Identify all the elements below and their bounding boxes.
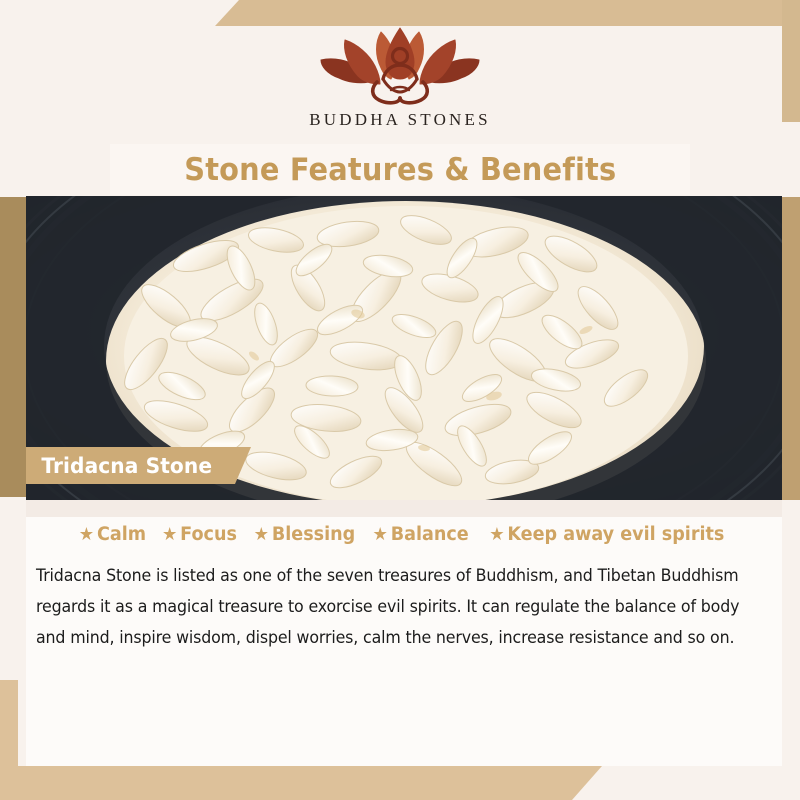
feature-item-blessing: ★ Blessing	[254, 524, 356, 545]
feature-label: Calm	[97, 524, 146, 545]
star-icon: ★	[489, 526, 504, 544]
bottom-left-border-band	[0, 680, 18, 800]
star-icon: ★	[254, 526, 269, 544]
left-border-band	[0, 197, 26, 497]
top-border-band	[215, 0, 800, 26]
feature-list: ★ Calm ★ Focus ★ Blessing ★ Balance ★ Ke…	[26, 524, 782, 545]
stone-name-label: Tridacna Stone	[26, 454, 212, 478]
stone-name-ribbon: Tridacna Stone	[26, 447, 251, 484]
feature-label: Balance	[391, 524, 469, 545]
feature-label: Focus	[180, 524, 237, 545]
title-banner: Stone Features & Benefits	[110, 144, 690, 195]
panel-top-fade	[26, 500, 782, 517]
feature-item-calm: ★ Calm	[79, 524, 146, 545]
feature-item-focus: ★ Focus	[162, 524, 237, 545]
bottom-border-band	[0, 766, 602, 800]
star-icon: ★	[372, 526, 387, 544]
lotus-meditation-figure-icon	[315, 24, 485, 108]
feature-label: Blessing	[272, 524, 355, 545]
brand-name: BUDDHA STONES	[309, 110, 491, 130]
star-icon: ★	[162, 526, 177, 544]
brand-logo: BUDDHA STONES	[0, 24, 800, 140]
feature-item-keep-away-evil-spirits: ★ Keep away evil spirits	[489, 524, 724, 545]
content-panel: ★ Calm ★ Focus ★ Blessing ★ Balance ★ Ke…	[26, 500, 782, 766]
feature-label: Keep away evil spirits	[508, 524, 725, 545]
description-text: Tridacna Stone is listed as one of the s…	[36, 560, 746, 653]
star-icon: ★	[79, 526, 94, 544]
right-border-band	[782, 197, 800, 500]
infographic-page: BUDDHA STONES Stone Features & Benefits	[0, 0, 800, 800]
feature-item-balance: ★ Balance	[372, 524, 468, 545]
page-title: Stone Features & Benefits	[184, 152, 616, 188]
